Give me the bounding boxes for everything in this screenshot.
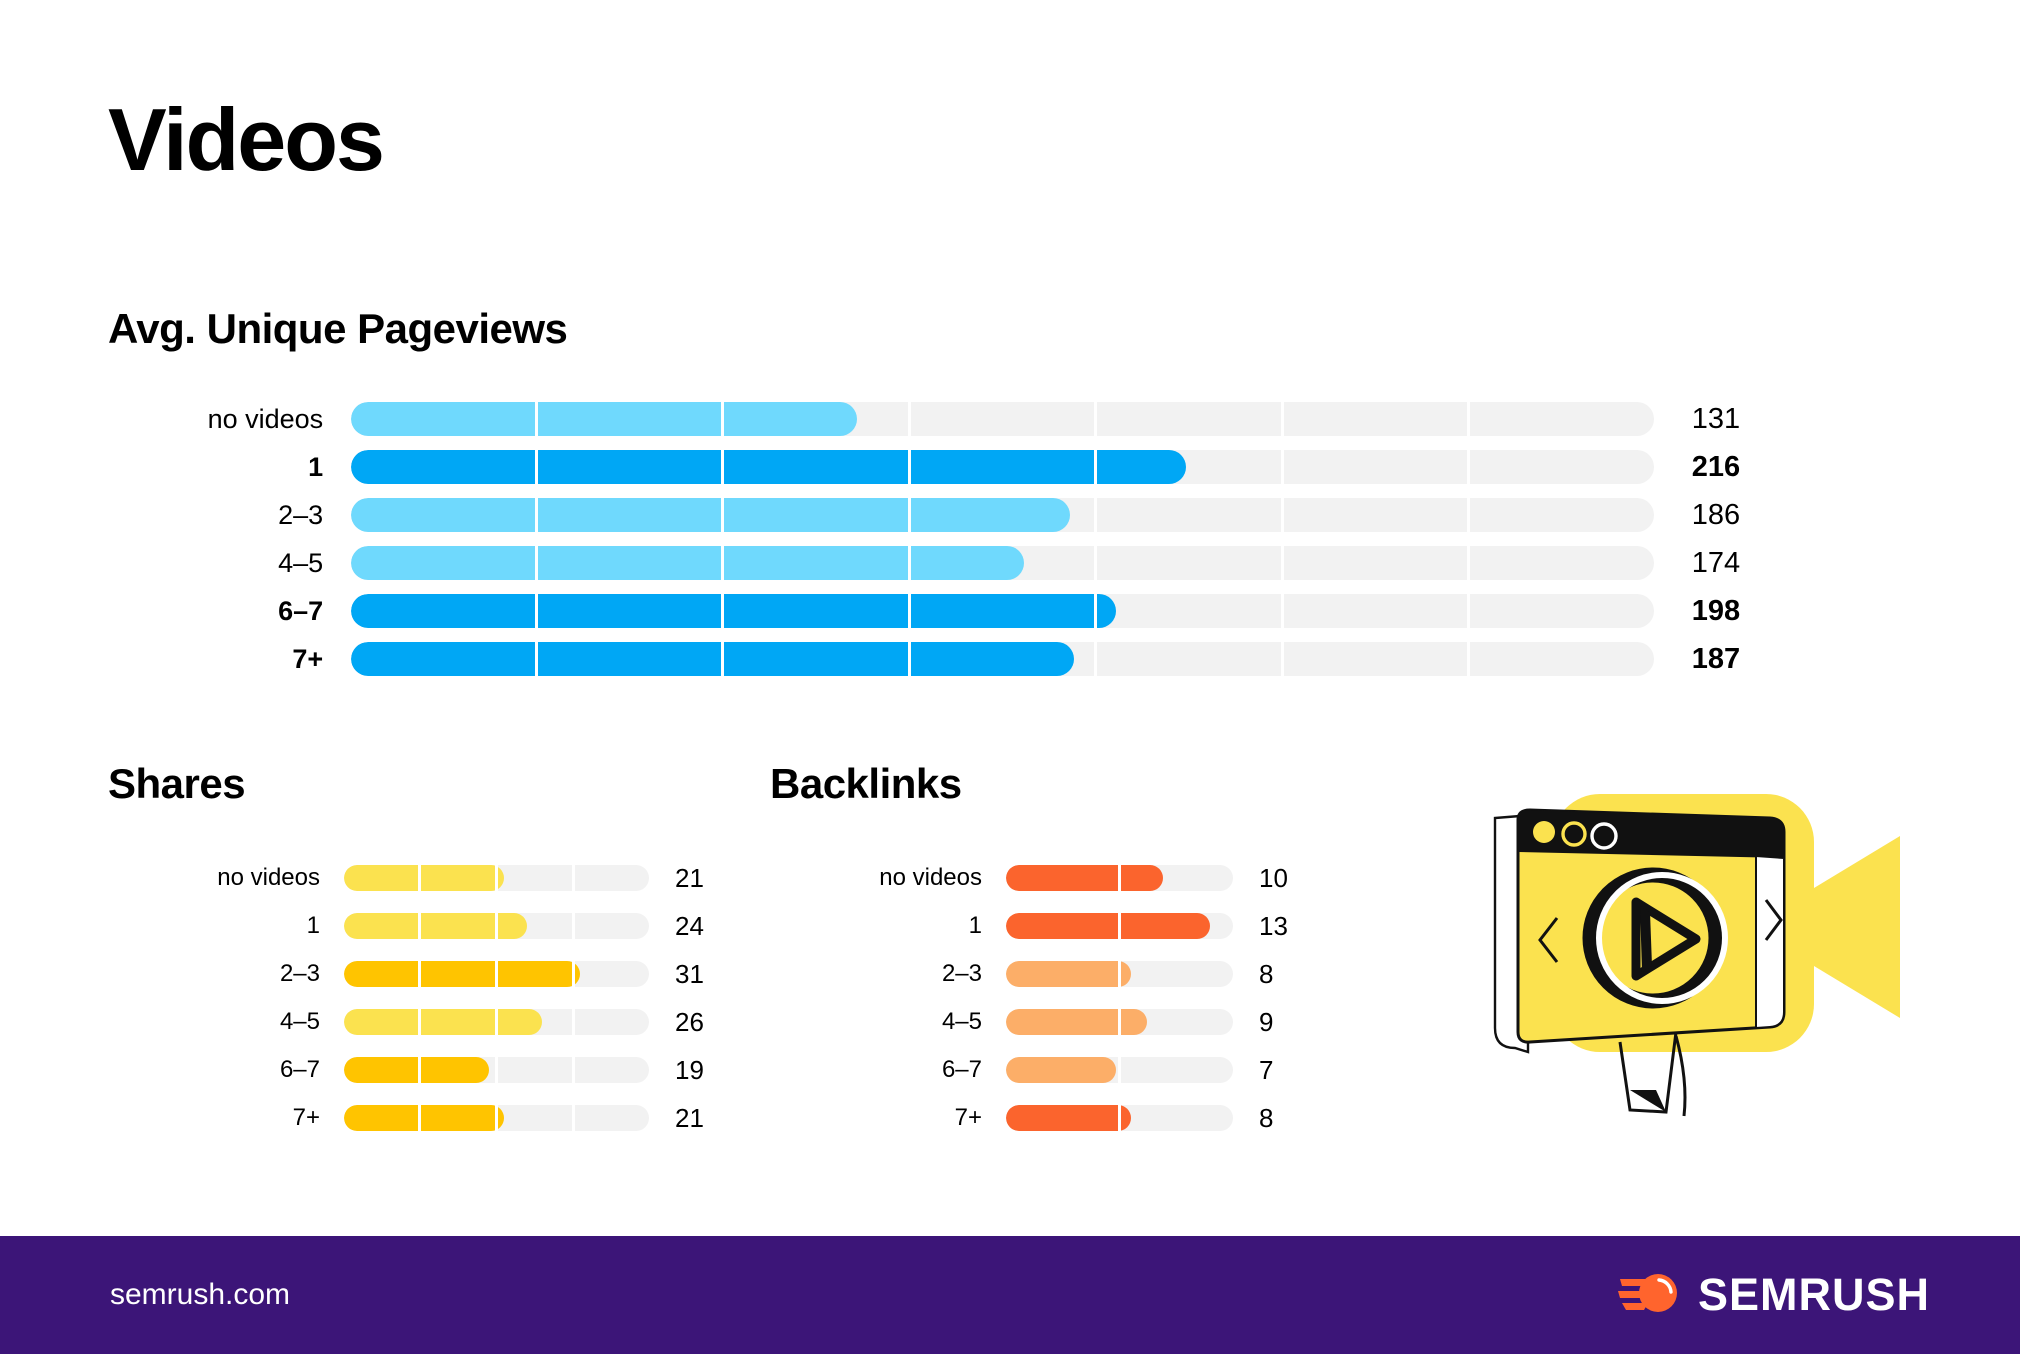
- bar-row-label: 4–5: [770, 1008, 1006, 1036]
- semrush-wordmark: SEMRUSH: [1698, 1269, 1930, 1321]
- segment-dividers: [351, 594, 1654, 628]
- segment-dividers: [344, 865, 649, 891]
- bar-row: 4–59: [770, 998, 1288, 1046]
- shares-chart-title: Shares: [108, 760, 704, 808]
- bar-track: [351, 642, 1654, 676]
- bar-row-label: no videos: [108, 404, 351, 435]
- bar-row: 7+21: [108, 1094, 704, 1142]
- bar-row-label: no videos: [770, 864, 1006, 892]
- bar-row: 6–719: [108, 1046, 704, 1094]
- page-title: Videos: [108, 96, 383, 184]
- segment-dividers: [1006, 865, 1233, 891]
- backlinks-rows: no videos101132–384–596–777+8: [770, 854, 1288, 1142]
- bar-row: 2–331: [108, 950, 704, 998]
- bar-value: 186: [1654, 499, 1808, 532]
- bar-value: 21: [649, 1103, 704, 1134]
- segment-dividers: [351, 402, 1654, 436]
- bar-track: [344, 865, 649, 891]
- semrush-comet-icon: [1618, 1269, 1680, 1322]
- bar-row-label: 2–3: [770, 960, 1006, 988]
- bar-value: 31: [649, 959, 704, 990]
- bar-track: [1006, 961, 1233, 987]
- footer-url[interactable]: semrush.com: [110, 1278, 290, 1312]
- segment-dividers: [351, 642, 1654, 676]
- pageviews-chart-title: Avg. Unique Pageviews: [108, 305, 1808, 353]
- bar-row: 124: [108, 902, 704, 950]
- bar-row-label: 7+: [108, 644, 351, 675]
- bar-row: 2–3186: [108, 491, 1808, 539]
- bar-track: [1006, 1105, 1233, 1131]
- bar-track: [1006, 1057, 1233, 1083]
- segment-dividers: [344, 961, 649, 987]
- pageviews-chart: Avg. Unique Pageviews no videos13112162–…: [108, 305, 1808, 683]
- bar-value: 8: [1233, 959, 1273, 990]
- bar-value: 26: [649, 1007, 704, 1038]
- bar-value: 7: [1233, 1055, 1273, 1086]
- infographic-page: Videos Avg. Unique Pageviews no videos13…: [0, 0, 2020, 1354]
- bar-row: no videos131: [108, 395, 1808, 443]
- bar-value: 19: [649, 1055, 704, 1086]
- segment-dividers: [351, 498, 1654, 532]
- bar-value: 21: [649, 863, 704, 894]
- bar-track: [1006, 913, 1233, 939]
- bar-row-label: 4–5: [108, 548, 351, 579]
- bar-row: 7+8: [770, 1094, 1288, 1142]
- segment-dividers: [344, 913, 649, 939]
- bar-row: 7+187: [108, 635, 1808, 683]
- bar-row: 6–77: [770, 1046, 1288, 1094]
- segment-dividers: [344, 1009, 649, 1035]
- segment-dividers: [1006, 913, 1233, 939]
- bar-track: [351, 594, 1654, 628]
- bar-value: 13: [1233, 911, 1288, 942]
- bar-track: [344, 1057, 649, 1083]
- bar-row: 113: [770, 902, 1288, 950]
- bar-row-label: no videos: [108, 864, 344, 892]
- bar-value: 216: [1654, 451, 1808, 484]
- backlinks-chart-title: Backlinks: [770, 760, 1288, 808]
- segment-dividers: [344, 1057, 649, 1083]
- bar-row-label: 2–3: [108, 500, 351, 531]
- bar-track: [344, 1105, 649, 1131]
- bar-track: [351, 402, 1654, 436]
- backlinks-chart: Backlinks no videos101132–384–596–777+8: [770, 760, 1288, 1142]
- bar-row: no videos21: [108, 854, 704, 902]
- segment-dividers: [1006, 961, 1233, 987]
- bar-row: 4–526: [108, 998, 704, 1046]
- video-camera-illustration: [1470, 760, 1930, 1120]
- shares-chart: Shares no videos211242–3314–5266–7197+21: [108, 760, 704, 1142]
- bar-row: 2–38: [770, 950, 1288, 998]
- bar-value: 9: [1233, 1007, 1273, 1038]
- bar-track: [344, 913, 649, 939]
- bar-value: 10: [1233, 863, 1288, 894]
- segment-dividers: [351, 450, 1654, 484]
- bar-row-label: 6–7: [108, 1056, 344, 1084]
- bar-row-label: 7+: [770, 1104, 1006, 1132]
- pageviews-rows: no videos13112162–31864–51746–71987+187: [108, 395, 1808, 683]
- bar-row-label: 1: [108, 912, 344, 940]
- shares-rows: no videos211242–3314–5266–7197+21: [108, 854, 704, 1142]
- bar-track: [351, 450, 1654, 484]
- bar-track: [1006, 865, 1233, 891]
- segment-dividers: [1006, 1057, 1233, 1083]
- bar-row: 4–5174: [108, 539, 1808, 587]
- bar-row-label: 1: [770, 912, 1006, 940]
- bar-row-label: 7+: [108, 1104, 344, 1132]
- bar-track: [351, 498, 1654, 532]
- bar-value: 131: [1654, 403, 1808, 436]
- footer-bar: semrush.com SEMRUSH: [0, 1236, 2020, 1354]
- bar-row: no videos10: [770, 854, 1288, 902]
- bar-row-label: 2–3: [108, 960, 344, 988]
- bar-row: 1216: [108, 443, 1808, 491]
- bar-value: 198: [1654, 595, 1808, 628]
- semrush-logo: SEMRUSH: [1618, 1269, 1930, 1322]
- bar-row-label: 6–7: [108, 596, 351, 627]
- segment-dividers: [1006, 1105, 1233, 1131]
- bar-value: 8: [1233, 1103, 1273, 1134]
- bar-row: 6–7198: [108, 587, 1808, 635]
- bar-value: 187: [1654, 643, 1808, 676]
- bar-row-label: 1: [108, 452, 351, 483]
- bar-value: 174: [1654, 547, 1808, 580]
- bar-value: 24: [649, 911, 704, 942]
- bar-track: [344, 961, 649, 987]
- bar-row-label: 6–7: [770, 1056, 1006, 1084]
- bar-track: [1006, 1009, 1233, 1035]
- segment-dividers: [344, 1105, 649, 1131]
- bar-track: [351, 546, 1654, 580]
- segment-dividers: [351, 546, 1654, 580]
- segment-dividers: [1006, 1009, 1233, 1035]
- bar-track: [344, 1009, 649, 1035]
- bar-row-label: 4–5: [108, 1008, 344, 1036]
